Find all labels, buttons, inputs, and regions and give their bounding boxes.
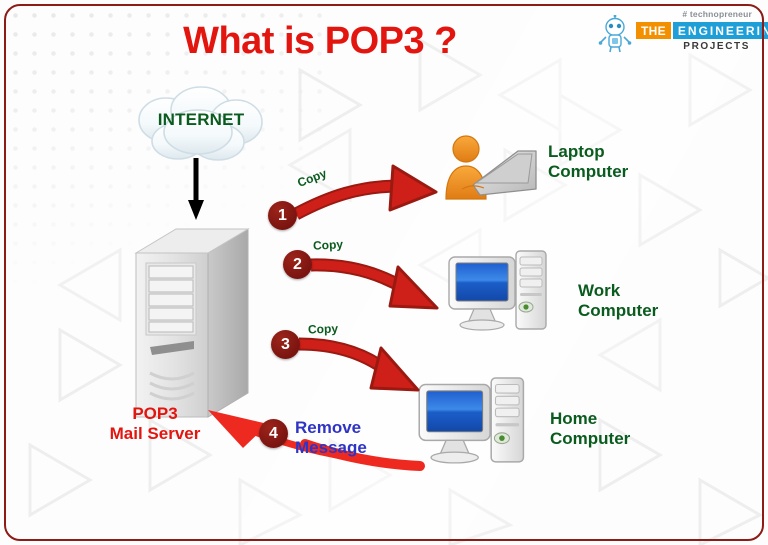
curved-arrow-2 [311,265,437,308]
home-label-line2: Computer [550,429,630,448]
step-4-action-label: Remove Message [295,418,415,458]
logo-word-engineering: ENGINEERING [673,22,768,39]
page-title: What is POP3 ? [0,20,640,63]
work-label-line2: Computer [578,301,658,320]
home-computer-label: Home Computer [550,409,630,449]
step-badge-2: 2 [283,250,312,279]
laptop-label-line1: Laptop [548,142,605,161]
work-computer-label: Work Computer [578,281,658,321]
curved-arrow-3 [299,344,418,390]
remove-label-line2: Message [295,438,367,457]
server-label-line2: Mail Server [110,424,201,443]
step-3-action-label: Copy [308,321,338,336]
logo-tagline: # technopreneur [682,9,752,19]
down-arrow-icon [188,158,204,220]
server-label-line1: POP3 [132,404,177,423]
server-label: POP3 Mail Server [60,404,250,444]
home-label-line1: Home [550,409,597,428]
robot-mascot-icon [598,15,632,53]
remove-label-line1: Remove [295,418,361,437]
laptop-label-line2: Computer [548,162,628,181]
step-badge-1: 1 [268,201,297,230]
step-2-action-label: Copy [313,237,344,253]
step-badge-4: 4 [259,419,288,448]
work-label-line1: Work [578,281,620,300]
logo-word-the: THE [636,22,671,39]
arrow-layer [0,0,768,545]
logo-word-projects: PROJECTS [683,41,750,52]
step-badge-3: 3 [271,330,300,359]
brand-logo[interactable]: # technopreneur THE ENGINEERING PROJECTS [594,9,754,59]
laptop-label: Laptop Computer [548,142,628,182]
diagram-canvas: What is POP3 ? # technopreneur THE ENGIN… [0,0,768,545]
